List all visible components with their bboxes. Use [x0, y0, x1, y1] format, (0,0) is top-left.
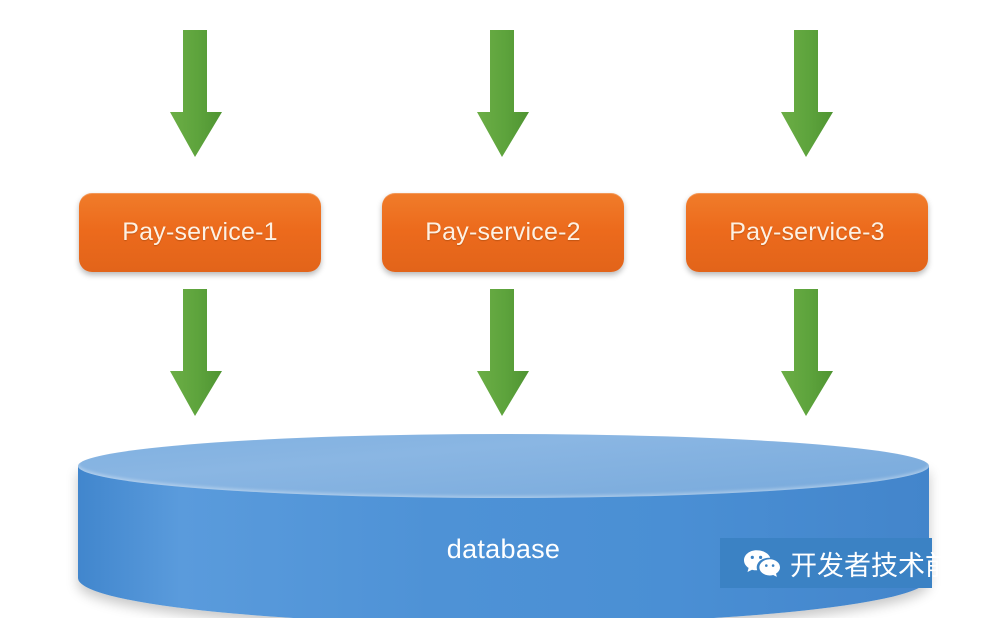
- database-cylinder[interactable]: database: [78, 434, 929, 618]
- db-arrow-1: [168, 289, 224, 425]
- cylinder-top-ellipse: [78, 434, 929, 498]
- service-box-pay-service-3[interactable]: Pay-service-3: [686, 193, 928, 272]
- inbound-arrow-1: [168, 30, 224, 166]
- service-box-pay-service-2[interactable]: Pay-service-2: [382, 193, 624, 272]
- inbound-arrow-2: [475, 30, 531, 166]
- watermark-badge: 开发者技术前线: [720, 538, 932, 588]
- wechat-icon: [742, 548, 782, 578]
- service-label: Pay-service-2: [425, 218, 580, 247]
- watermark-text: 开发者技术前线: [790, 544, 979, 583]
- service-box-pay-service-1[interactable]: Pay-service-1: [79, 193, 321, 272]
- service-label: Pay-service-1: [122, 218, 277, 247]
- inbound-arrow-3: [779, 30, 835, 166]
- service-label: Pay-service-3: [729, 218, 884, 247]
- diagram-canvas: Pay-service-1 Pay-service-2 Pay-service-…: [0, 0, 1000, 618]
- db-arrow-2: [475, 289, 531, 425]
- db-arrow-3: [779, 289, 835, 425]
